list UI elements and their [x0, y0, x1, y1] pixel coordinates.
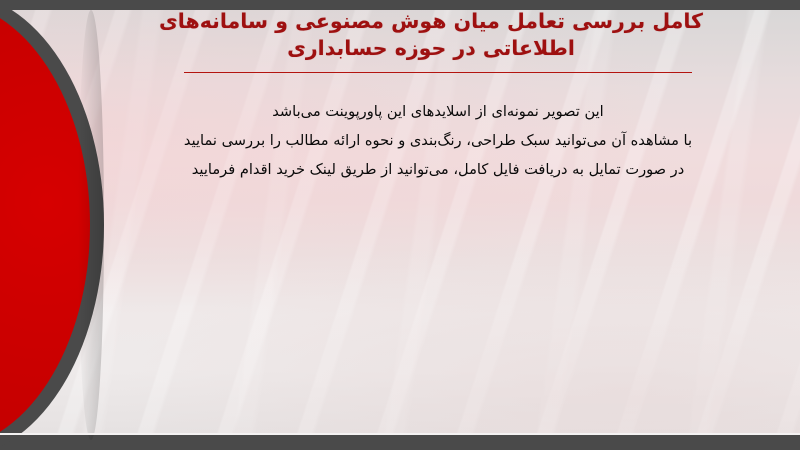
body-line-3: در صورت تمایل به دریافت فایل کامل، می‌تو… [110, 155, 766, 184]
body-line-1: این تصویر نمونه‌ای از اسلایدهای این پاور… [110, 97, 766, 126]
title-underline-rule [184, 72, 692, 73]
slide-body-text: این تصویر نمونه‌ای از اسلایدهای این پاور… [104, 97, 772, 184]
slide-title: کامل بررسی تعامل میان هوش مصنوعی و سامان… [104, 8, 772, 62]
body-line-2: با مشاهده آن می‌توانید سبک طراحی، رنگ‌بن… [110, 126, 766, 155]
bottom-hairline-divider [0, 433, 800, 435]
slide-content: کامل بررسی تعامل میان هوش مصنوعی و سامان… [104, 0, 772, 184]
presentation-slide: کامل بررسی تعامل میان هوش مصنوعی و سامان… [0, 0, 800, 450]
